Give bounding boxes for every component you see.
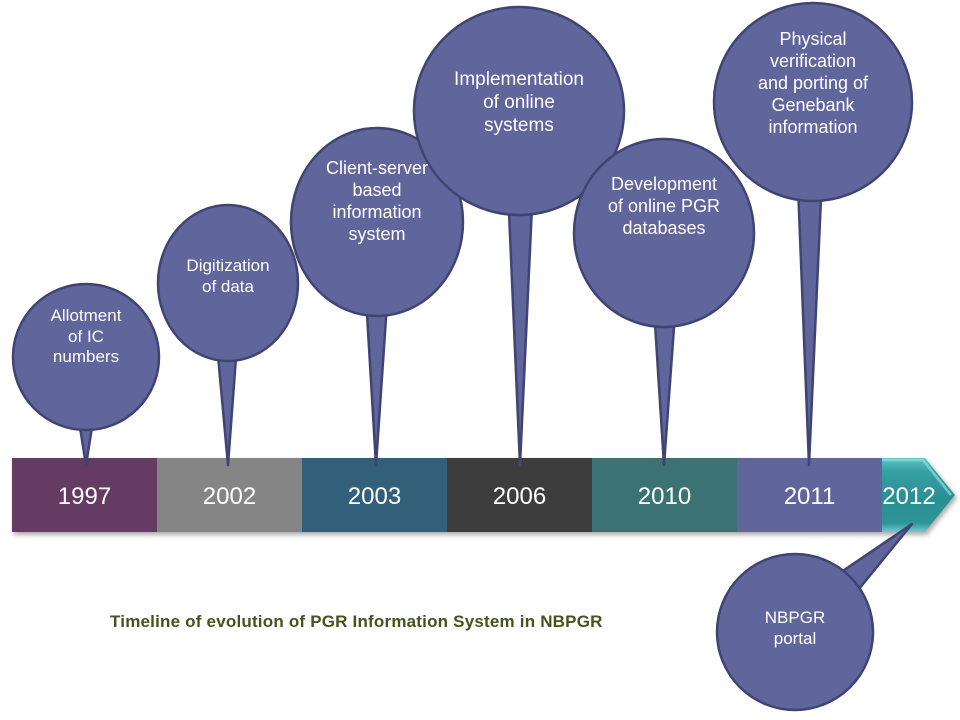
timeline-segment-2012-arrow[interactable]: [882, 458, 955, 532]
callout-bubble-2010[interactable]: [574, 139, 754, 327]
diagram-caption: Timeline of evolution of PGR Information…: [110, 612, 603, 632]
timeline-segment-2003[interactable]: [302, 458, 447, 532]
callout-bubbles: [13, 3, 912, 710]
callout-bubble-1997[interactable]: [13, 284, 159, 430]
callout-bubble-2012[interactable]: [717, 554, 873, 710]
timeline-diagram: Allotment of IC numbers Digitization of …: [0, 0, 960, 720]
timeline-segment-2006[interactable]: [447, 458, 592, 532]
timeline-segment-2011[interactable]: [737, 458, 882, 532]
callout-bubble-2002[interactable]: [158, 205, 298, 361]
timeline-segment-2010[interactable]: [592, 458, 737, 532]
timeline-bar: [12, 458, 955, 532]
timeline-segment-2002[interactable]: [157, 458, 302, 532]
callout-bubble-2011[interactable]: [714, 3, 912, 201]
timeline-segment-1997[interactable]: [12, 458, 157, 532]
